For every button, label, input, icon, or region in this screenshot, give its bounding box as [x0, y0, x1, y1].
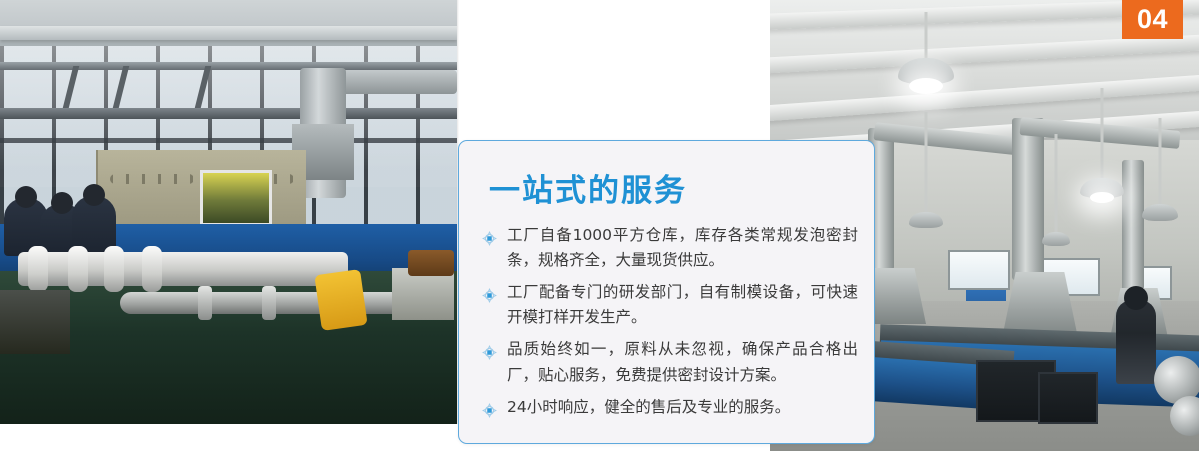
list-item-text: 24小时响应，健全的售后及专业的服务。	[507, 398, 790, 416]
shaft-collar	[262, 286, 276, 320]
lamp-rod	[1159, 118, 1162, 204]
list-item-text: 品质始终如一，原料从未忽视，确保产品合格出厂，贴心服务，免费提供密封设计方案。	[507, 340, 858, 383]
exhaust-duct	[1122, 160, 1144, 290]
lamp-rod	[1055, 134, 1058, 232]
step-number-badge: 04	[1122, 0, 1183, 39]
lamp-bulb	[909, 78, 943, 94]
foreground-dark-unit	[0, 290, 70, 354]
left-photo-bottom-gap	[0, 424, 457, 451]
shaft-collar	[198, 286, 212, 320]
diamond-bullet-icon	[482, 401, 497, 416]
list-item-text: 工厂自备1000平方仓库，库存各类常规发泡密封条，规格齐全，大量现货供应。	[507, 226, 858, 269]
service-info-card: 一站式的服务 工厂自备1000平方仓库，库存各类常规发泡密封条，规格齐全，大量现…	[458, 140, 875, 444]
lamp-rod	[925, 12, 928, 58]
factory-extrusion-line-photo	[0, 0, 457, 424]
diamond-bullet-icon	[482, 229, 497, 244]
wall-window	[948, 250, 1010, 290]
lamp-bulb	[1090, 192, 1114, 203]
lamp-rod	[1101, 88, 1104, 178]
extruder-ring	[104, 246, 124, 292]
structural-beam	[0, 108, 457, 119]
worker-figure	[1116, 300, 1156, 384]
list-item-text: 工厂配备专门的研发部门，自有制模设备，可快速开模打样开发生产。	[507, 283, 858, 326]
card-title: 一站式的服务	[489, 165, 687, 210]
workers-group	[0, 186, 120, 256]
lamp-shade	[1042, 232, 1070, 246]
control-panel-display	[200, 170, 272, 226]
lamp-shade	[909, 212, 943, 228]
exhaust-duct	[1012, 118, 1044, 280]
upper-beam	[0, 62, 457, 70]
diamond-bullet-icon	[482, 286, 497, 301]
list-item: 品质始终如一，原料从未忽视，确保产品合格出厂，贴心服务，免费提供密封设计方案。	[481, 337, 858, 387]
step-number-text: 04	[1137, 6, 1168, 33]
promo-banner: 04 一站式的服务 工厂自备1000平方仓库，库存各类常规发泡密封条，规格齐全，…	[0, 0, 1199, 451]
yellow-equipment	[314, 269, 367, 331]
lamp-rod	[925, 112, 928, 212]
extruder-ring	[142, 246, 162, 292]
service-bullet-list: 工厂自备1000平方仓库，库存各类常规发泡密封条，规格齐全，大量现货供应。 工厂…	[481, 223, 858, 427]
ceiling-duct	[0, 26, 457, 40]
diamond-bullet-icon	[482, 343, 497, 358]
list-item: 24小时响应，健全的售后及专业的服务。	[481, 395, 858, 420]
material-drum	[408, 250, 454, 276]
list-item: 工厂配备专门的研发部门，自有制模设备，可快速开模打样开发生产。	[481, 280, 858, 330]
storage-crate	[1038, 372, 1098, 424]
list-item: 工厂自备1000平方仓库，库存各类常规发泡密封条，规格齐全，大量现货供应。	[481, 223, 858, 273]
extruder-ring	[68, 246, 88, 292]
extruder-ring	[28, 246, 48, 292]
lamp-shade	[1142, 204, 1178, 221]
